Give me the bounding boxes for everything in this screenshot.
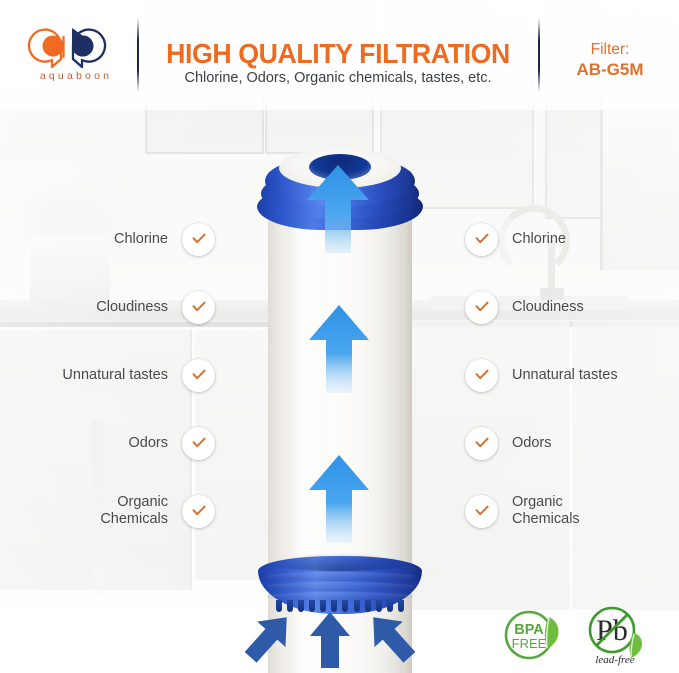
page-subtitle: Chlorine, Odors, Organic chemicals, tast… bbox=[150, 70, 526, 86]
check-icon bbox=[465, 291, 498, 324]
aquaboon-logo-mark bbox=[22, 26, 130, 68]
header-bar: aquaboon HIGH QUALITY FILTRATION Chlorin… bbox=[0, 0, 679, 110]
flow-arrow-up-icon bbox=[307, 303, 371, 400]
benefit-label: Cloudiness bbox=[512, 299, 584, 316]
benefit-item: Organic Chemicals bbox=[15, 477, 215, 545]
benefit-item: Odors bbox=[15, 409, 215, 477]
header-divider bbox=[137, 18, 139, 92]
check-icon bbox=[182, 291, 215, 324]
check-icon bbox=[182, 359, 215, 392]
bottom-cap-shadow bbox=[262, 553, 418, 571]
header-divider bbox=[538, 18, 540, 92]
water-drop-b-icon bbox=[72, 28, 105, 67]
brand-wordmark: aquaboon bbox=[22, 70, 130, 82]
benefit-item: Chlorine bbox=[465, 205, 665, 273]
benefit-item: Cloudiness bbox=[15, 273, 215, 341]
benefit-item: Odors bbox=[465, 409, 665, 477]
page-title: HIGH QUALITY FILTRATION bbox=[156, 38, 521, 70]
check-icon bbox=[465, 223, 498, 256]
filter-label: Filter: bbox=[548, 40, 672, 59]
flow-arrow-up-icon bbox=[307, 453, 371, 550]
lead-free-icon: Pb lead-free bbox=[582, 603, 658, 667]
water-filter-cartridge bbox=[255, 128, 425, 648]
benefit-label: Chlorine bbox=[512, 231, 566, 248]
flow-arrow-up-icon bbox=[305, 163, 371, 260]
check-icon bbox=[465, 427, 498, 460]
benefit-item: Cloudiness bbox=[465, 273, 665, 341]
benefit-label: Organic Chemicals bbox=[100, 494, 168, 528]
check-icon bbox=[182, 427, 215, 460]
benefits-list-left: Chlorine Cloudiness Unnatural tastes Odo… bbox=[15, 205, 215, 545]
benefit-item: Unnatural tastes bbox=[465, 341, 665, 409]
benefit-label: Odors bbox=[129, 435, 169, 452]
check-icon bbox=[465, 495, 498, 528]
lead-free-caption: lead-free bbox=[595, 654, 634, 666]
benefit-item: Organic Chemicals bbox=[465, 477, 665, 545]
benefit-item: Chlorine bbox=[15, 205, 215, 273]
bpa-line2: FREE bbox=[512, 636, 547, 651]
benefit-label: Unnatural tastes bbox=[62, 367, 168, 384]
check-icon bbox=[182, 495, 215, 528]
product-infographic: Chlorine Cloudiness Unnatural tastes Odo… bbox=[0, 0, 679, 673]
benefits-list-right: Chlorine Cloudiness Unnatural tastes Odo… bbox=[465, 205, 665, 545]
filter-model-block: Filter: AB-G5M bbox=[548, 40, 672, 81]
benefit-label: Unnatural tastes bbox=[512, 367, 618, 384]
check-icon bbox=[182, 223, 215, 256]
benefit-label: Cloudiness bbox=[96, 299, 168, 316]
inlet-flow-arrows bbox=[230, 608, 430, 668]
brand-logo[interactable]: aquaboon bbox=[22, 26, 130, 88]
benefit-label: Odors bbox=[512, 435, 552, 452]
benefit-label: Organic Chemicals bbox=[512, 494, 580, 528]
benefit-label: Chlorine bbox=[114, 231, 168, 248]
water-drop-a-icon bbox=[29, 30, 63, 67]
filter-model: AB-G5M bbox=[548, 59, 672, 81]
certification-badges: BPA FREE Pb lead-free bbox=[500, 602, 665, 668]
bottom-cap-groove bbox=[266, 582, 414, 591]
bpa-free-icon: BPA FREE bbox=[500, 605, 570, 665]
check-icon bbox=[465, 359, 498, 392]
benefit-item: Unnatural tastes bbox=[15, 341, 215, 409]
bottom-cap-groove bbox=[266, 572, 414, 581]
